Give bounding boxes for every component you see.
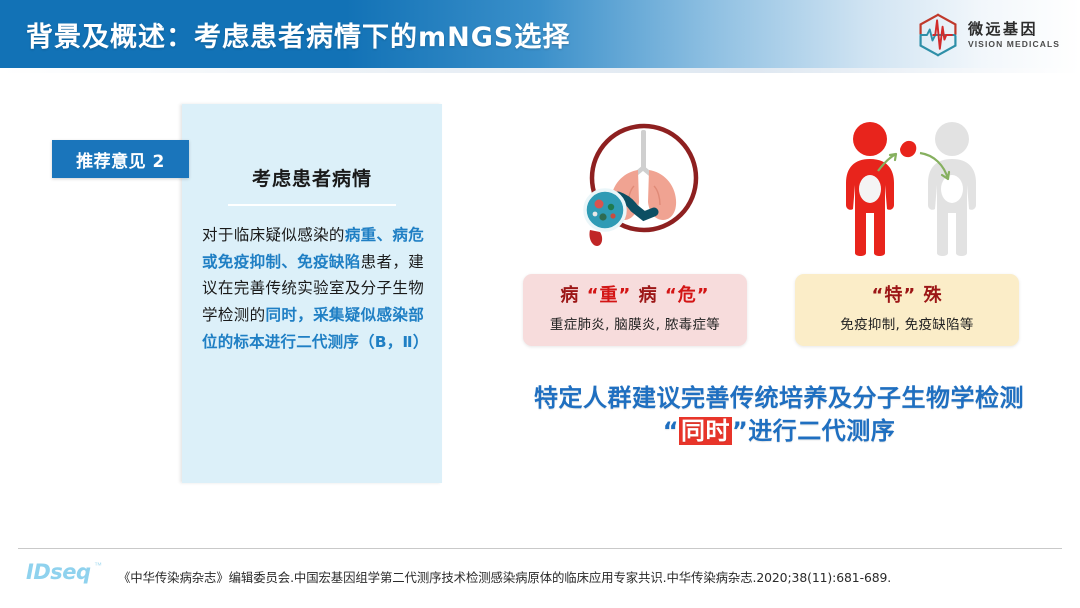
header-underline	[0, 68, 1080, 73]
category-heading-severe: 病 “重” 病 “危”	[523, 285, 747, 308]
footer-citation: 《中华传染病杂志》编辑委员会.中国宏基因组学第二代测序技术检测感染病原体的临床应…	[118, 568, 891, 586]
brand-name-cn: 微远基因	[968, 22, 1060, 37]
idseq-logo: IDseq ™	[26, 556, 110, 590]
conclusion-line-1: 特定人群建议完善传统培养及分子生物学检测	[490, 382, 1068, 415]
trademark-icon: ™	[94, 561, 102, 570]
card-body-segment-0: 对于临床疑似感染的	[202, 226, 345, 244]
conclusion-line-2: “同时”进行二代测序	[490, 415, 1068, 448]
footer-divider	[18, 548, 1062, 549]
page-title: 背景及概述：考虑患者病情下的mNGS选择	[26, 15, 570, 54]
category-subtext-special: 免疫抑制, 免疫缺陷等	[795, 313, 1019, 333]
card-divider	[228, 204, 396, 206]
conclusion-text: 特定人群建议完善传统培养及分子生物学检测 “同时”进行二代测序	[490, 382, 1068, 448]
idseq-logo-text: IDseq	[26, 560, 91, 584]
recommendation-card: 考虑患者病情 对于临床疑似感染的病重、病危或免疫抑制、免疫缺陷患者，建议在完善传…	[182, 104, 442, 483]
brand-text-group: 微远基因 VISION MEDICALS	[968, 22, 1060, 49]
brand-name-en: VISION MEDICALS	[968, 40, 1060, 49]
category-box-special: “特” 殊 免疫抑制, 免疫缺陷等	[795, 274, 1019, 346]
person-transmission-icon	[828, 113, 990, 261]
card-title: 考虑患者病情	[182, 164, 442, 191]
vision-medicals-hexagon-icon	[916, 12, 960, 58]
category-box-severe: 病 “重” 病 “危” 重症肺炎, 脑膜炎, 脓毒症等	[523, 274, 747, 346]
category-heading-special: “特” 殊	[795, 285, 1019, 308]
recommendation-badge: 推荐意见 2	[52, 140, 189, 178]
lungs-infection-icon	[558, 112, 726, 262]
conclusion-boxed-word: 同时	[679, 417, 732, 445]
category-subtext-severe: 重症肺炎, 脑膜炎, 脓毒症等	[523, 313, 747, 333]
card-body-text: 对于临床疑似感染的病重、病危或免疫抑制、免疫缺陷患者，建议在完善传统实验室及分子…	[202, 222, 424, 355]
conclusion-quote-open: “	[663, 417, 679, 445]
conclusion-tail: ”进行二代测序	[732, 417, 895, 445]
brand-logo: 微远基因 VISION MEDICALS	[916, 12, 1060, 58]
